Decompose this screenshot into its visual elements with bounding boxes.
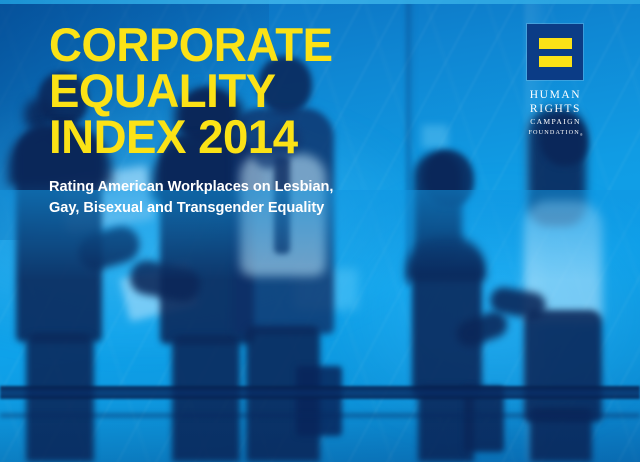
page-subtitle: Rating American Workplaces on Lesbian, G… <box>49 160 469 218</box>
hrc-logo: HUMAN RIGHTS CAMPAIGN FOUNDATION® <box>527 24 584 138</box>
hrc-logo-line-foundation: FOUNDATION® <box>527 127 584 137</box>
registered-trademark-icon: ® <box>580 133 583 137</box>
hrc-logo-line-rights: RIGHTS <box>527 103 584 117</box>
equality-sign-bar-top <box>539 38 572 49</box>
hrc-logo-line-campaign: CAMPAIGN <box>527 116 584 127</box>
corporate-equality-index-poster: CORPORATE EQUALITY INDEX 2014 Rating Ame… <box>0 0 640 462</box>
equality-sign-icon <box>527 24 583 80</box>
title-block: CORPORATE EQUALITY INDEX 2014 Rating Ame… <box>49 22 469 218</box>
background-top-strip <box>0 0 640 4</box>
hrc-logo-wordmark: HUMAN RIGHTS CAMPAIGN FOUNDATION® <box>527 80 584 138</box>
hrc-logo-foundation-text: FOUNDATION <box>528 129 579 136</box>
equality-sign-bar-bottom <box>539 56 572 67</box>
page-title: CORPORATE EQUALITY INDEX 2014 <box>49 22 456 160</box>
background-floor-shadow <box>0 398 640 462</box>
hrc-logo-line-human: HUMAN <box>527 89 584 103</box>
